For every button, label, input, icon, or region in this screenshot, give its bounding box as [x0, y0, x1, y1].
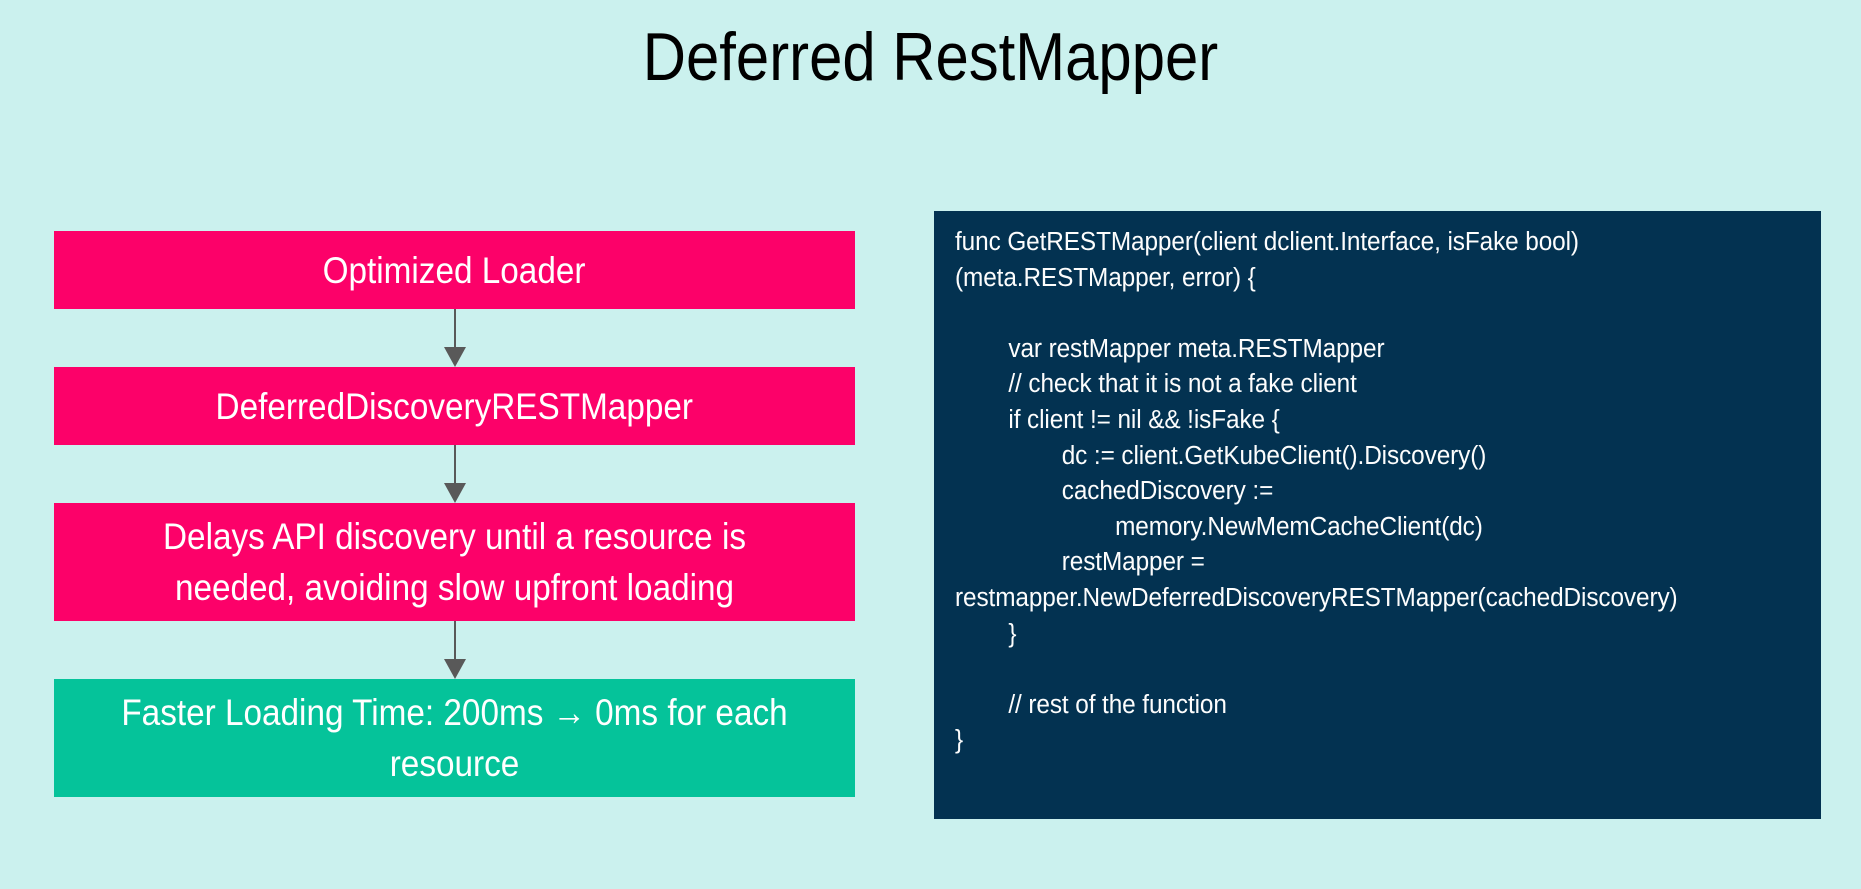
flow-box-label: Optimized Loader — [323, 245, 586, 296]
slide-canvas: Deferred RestMapper Optimized Loader Def… — [0, 0, 1861, 889]
page-title: Deferred RestMapper — [112, 20, 1750, 95]
arrow-head-icon — [444, 347, 466, 367]
arrow-2-down — [54, 445, 855, 503]
flow-diagram: Optimized Loader DeferredDiscoveryRESTMa… — [54, 231, 855, 797]
flow-box-delays-api-discovery: Delays API discovery until a resource is… — [54, 503, 855, 621]
flow-box-label: Faster Loading Time: 200ms → 0ms for eac… — [107, 687, 803, 789]
arrow-head-icon — [444, 659, 466, 679]
code-block: func GetRESTMapper(client dclient.Interf… — [955, 225, 1803, 759]
arrow-1-down — [54, 309, 855, 367]
code-panel: func GetRESTMapper(client dclient.Interf… — [934, 211, 1821, 819]
arrow-3-down — [54, 621, 855, 679]
flow-box-label: DeferredDiscoveryRESTMapper — [216, 381, 693, 432]
flow-box-label: Delays API discovery until a resource is… — [107, 511, 803, 613]
arrow-head-icon — [444, 483, 466, 503]
flow-box-faster-loading-time: Faster Loading Time: 200ms → 0ms for eac… — [54, 679, 855, 797]
flow-box-optimized-loader: Optimized Loader — [54, 231, 855, 309]
flow-box-deferred-discovery-restmapper: DeferredDiscoveryRESTMapper — [54, 367, 855, 445]
